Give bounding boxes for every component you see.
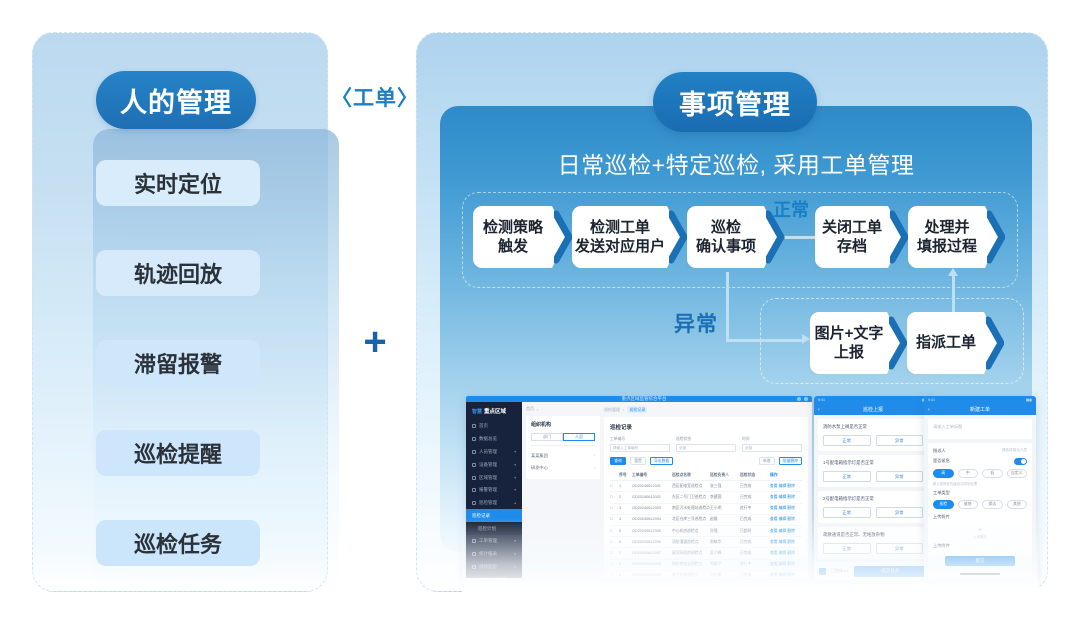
table-row[interactable]: □9GD20240612009地下车库巡检点冯志刚已完成查看 编辑 删除 [610, 571, 802, 578]
cell-code: GD20240612001 [632, 484, 672, 489]
row-checkbox[interactable]: □ [610, 551, 619, 556]
cell-no: 3 [619, 506, 632, 511]
left-item-stay-alarm[interactable]: 滞留报警 [96, 340, 260, 386]
sidebar-label: 区域管理 [479, 475, 497, 481]
report-icon [472, 552, 476, 556]
left-panel-item-list: 实时定位 轨迹回放 滞留报警 巡检提醒 巡检任务 [96, 160, 260, 566]
flow-box-line2: 上报 [834, 344, 864, 361]
checklist-question: 疏散通道是否正常、无堆放杂物 [823, 532, 923, 538]
phone-dispatch-mockup[interactable]: 9:41 ▮▮▮ ‹ 新建工单 请输入工单标题 指派人 请选择指派人员 [924, 396, 1036, 580]
sidebar-item-inspection-record[interactable]: 巡检记录 [466, 509, 522, 522]
phone-checklist-body: 消防水泵上阀是否正常正常异常1号配电箱指示灯是否正常正常异常2号配电箱指示灯是否… [814, 415, 932, 580]
cell-status: 进行中 [740, 506, 770, 511]
row-checkbox[interactable]: □ [610, 540, 619, 545]
cell-code: GD20240612004 [632, 517, 672, 522]
upload-photo-text: 上传照片 [933, 534, 1027, 539]
flow-line-to-report [726, 339, 804, 342]
flow-box-line2: 确认事项 [696, 238, 756, 255]
table-row[interactable]: □4GD20240612004北区仓库三号巡检点赵磊已完成查看 编辑 删除 [610, 515, 802, 526]
cell-point: 西区配电室巡检点 [672, 484, 710, 489]
chevron-down-icon: ▾ [514, 463, 516, 467]
sidebar-label: 设备管理 [479, 462, 497, 468]
sidebar-item-alarm[interactable]: 报警管理▾ [466, 484, 522, 497]
cell-status: 已完成 [740, 495, 770, 500]
option-normal[interactable]: 正常 [823, 435, 871, 446]
status-time: 9:41 [928, 398, 935, 402]
sidebar-item-inspection[interactable]: 巡检管理▴ [466, 497, 522, 510]
checklist-item: 消防水泵上阀是否正常正常异常 [818, 419, 928, 451]
row-checkbox[interactable]: □ [610, 495, 619, 500]
left-item-inspection-reminder[interactable]: 巡检提醒 [96, 430, 260, 476]
checklist-item: 疏散通道是否正常、无堆放杂物正常异常 [818, 527, 928, 559]
cell-actions[interactable]: 查看 编辑 删除 [770, 506, 802, 511]
tab-person[interactable]: 人员 [563, 433, 595, 441]
priority-option-custom[interactable]: 自定义 [1007, 469, 1028, 478]
cell-person: 吴少峰 [710, 551, 740, 556]
chevron-down-icon: ▾ [514, 552, 516, 556]
cell-code: GD20240612003 [632, 506, 672, 511]
flow-box-line2: 填报过程 [917, 238, 977, 255]
priority-hint: 默认按照优先级自动排序处理 [933, 481, 1027, 486]
desktop-sidebar[interactable]: 智慧 重点区域 首页 数据总览 人员管理▾ 设备管理▾ 区域管理▾ 报警管理▾ … [466, 402, 522, 578]
flow-box-line1: 关闭工单 [822, 219, 882, 236]
back-icon[interactable]: ‹ [928, 407, 930, 413]
sidebar-item-asset[interactable]: 资产档案管理▾ [466, 573, 522, 578]
cell-status: 已完成 [740, 540, 770, 545]
col-op: 操作 [770, 473, 802, 478]
flow-box-line1: 检测工单 [590, 219, 650, 236]
phone-footer: 已完成4/4 提交任务 [814, 562, 932, 580]
org-tree-title: 组织机构 [531, 421, 595, 428]
status-time: 9:41 [818, 398, 825, 402]
col-no: 序号 [619, 473, 632, 478]
filter-order-code: 工单编号 请输入工单编号 [610, 437, 670, 452]
cell-status: 进行中 [740, 562, 770, 567]
flow-box-line1: 巡检 [711, 219, 741, 236]
cell-person: 孙强 [710, 529, 740, 534]
sidebar-item-report[interactable]: 统计报表▾ [466, 548, 522, 561]
field-assignee[interactable]: 指派人 请选择指派人员 [933, 448, 1027, 454]
checklist-question: 消防水泵上阀是否正常 [823, 424, 923, 430]
option-normal[interactable]: 正常 [823, 507, 871, 518]
checklist-question: 1号配电箱指示灯是否正常 [823, 460, 923, 466]
right-panel-subtitle: 日常巡检+特定巡检, 采用工单管理 [440, 146, 1032, 180]
flow-box-process-and-report[interactable]: 处理并填报过程 [908, 206, 1000, 268]
filter-label: 工单编号 [610, 437, 670, 442]
cell-no: 7 [619, 551, 632, 556]
cell-status: 已超时 [740, 529, 770, 534]
left-item-inspection-task[interactable]: 巡检任务 [96, 520, 260, 566]
reset-button[interactable]: 重置 [630, 457, 646, 465]
logo-text: 重点区域 [484, 407, 506, 415]
sidebar-item-video[interactable]: 视频监控▾ [466, 561, 522, 574]
sidebar-item-overview[interactable]: 数据总览 [466, 433, 522, 446]
logo-brand: 智慧 [472, 408, 482, 415]
cell-point: 南区污水处理站巡检点 [672, 506, 710, 511]
checklist-options: 正常异常 [823, 471, 923, 482]
chevron-right-icon: › [594, 465, 595, 471]
cell-point: 中心机房巡检点 [672, 529, 710, 534]
table-row[interactable]: □5GD20240612005中心机房巡检点孙强已超时查看 编辑 删除 [610, 526, 802, 537]
left-panel-title: 人的管理 [96, 71, 256, 129]
avatar[interactable] [804, 397, 808, 401]
field-title[interactable]: 请输入工单标题 [928, 419, 1032, 439]
sidebar-item-home[interactable]: 首页 [466, 420, 522, 433]
flow-arrowhead-to-report [802, 334, 810, 344]
cell-status: 已完成 [740, 551, 770, 556]
cell-actions[interactable]: 查看 编辑 删除 [770, 551, 802, 556]
type-option-other[interactable]: 其他 [1007, 500, 1028, 509]
cell-actions[interactable]: 查看 编辑 删除 [770, 517, 802, 522]
cell-person: 王小明 [710, 506, 740, 511]
breadcrumb-home[interactable]: 首页 [526, 406, 534, 412]
video-icon [472, 565, 476, 569]
cell-point: 北区仓库三号巡检点 [672, 517, 710, 522]
phone-inspection-mockup[interactable]: 9:41 ▮▮▮ ‹ 巡检上报 消防水泵上阀是否正常正常异常1号配电箱指示灯是否… [814, 396, 932, 580]
checklist-options: 正常异常 [823, 507, 923, 518]
chevron-down-icon: ▾ [514, 476, 516, 480]
field-upload-photo-label: 上传照片 [933, 514, 1027, 520]
flow-box-line2: 发送对应用户 [575, 238, 665, 255]
col-person: 巡检负责人 [710, 473, 740, 478]
col-code: 工单编号 [632, 473, 672, 478]
field-type-label: 工单类型 [933, 490, 1027, 496]
action-bar: 查询 重置 导出数据 新增 批量删除 [610, 457, 802, 465]
sidebar-item-org[interactable]: 人员管理▾ [466, 446, 522, 459]
sidebar-label: 数据总览 [479, 436, 497, 442]
urgent-toggle[interactable] [1014, 458, 1027, 465]
chart-icon [472, 437, 476, 441]
priority-options[interactable]: 高 中 低 自定义 [933, 469, 1027, 478]
batch-delete-button[interactable]: 批量删除 [779, 457, 802, 465]
desktop-logo: 智慧 重点区域 [466, 402, 522, 420]
checklist-options: 正常异常 [823, 435, 923, 446]
filter-status: 巡检状态 全部 [676, 437, 736, 452]
cell-actions[interactable]: 查看 编辑 删除 [770, 529, 802, 534]
cell-no: 6 [619, 540, 632, 545]
flow-box-line1: 指派工单 [916, 333, 976, 352]
panel-title: 巡检记录 [610, 423, 802, 431]
filter-label: 巡检状态 [676, 437, 736, 442]
checklist-options: 正常异常 [823, 543, 923, 554]
flow-box-line1: 处理并 [924, 219, 969, 236]
left-item-realtime-location[interactable]: 实时定位 [96, 160, 260, 206]
cell-code: GD20240612008 [632, 562, 672, 567]
table-row[interactable]: □1GD20240612001西区配电室巡检点张三强已完成查看 编辑 删除 [610, 481, 802, 492]
footer-progress: 已完成4/4 [831, 568, 849, 574]
phone-status-bar: 9:41 ▮▮▮ [924, 396, 1036, 404]
desktop-topbar-actions[interactable] [766, 397, 812, 401]
flow-line-normal [785, 236, 817, 239]
cell-code: GD20240612002 [632, 495, 672, 500]
chevron-down-icon: ▾ [514, 488, 516, 492]
row-checkbox[interactable]: □ [610, 562, 619, 567]
org-tree-tabs[interactable]: 部门 人员 [531, 433, 595, 441]
filter-input[interactable]: 请输入工单编号 [610, 444, 670, 452]
branch-label-abnormal: 异常 [674, 308, 718, 338]
flow-box-dispatch-work-order[interactable]: 指派工单 [907, 312, 999, 374]
option-abnormal[interactable]: 异常 [876, 543, 924, 554]
checklist-item: 1号配电箱指示灯是否正常正常异常 [818, 455, 928, 487]
phone-nav-bar: ‹ 巡检上报 [814, 404, 932, 415]
row-checkbox[interactable]: □ [610, 573, 619, 578]
filter-select[interactable]: 全部 [742, 444, 802, 452]
table-row[interactable]: □6GD20240612006消防通道巡检点周敏华已完成查看 编辑 删除 [610, 537, 802, 548]
flow-box-line1: 检测策略 [483, 219, 543, 236]
cell-person: 李建国 [710, 495, 740, 500]
flow-box-send-work-order[interactable]: 检测工单发送对应用户 [572, 206, 682, 268]
cell-person: 冯志刚 [710, 573, 740, 578]
cell-point: 东区二号门卫巡检点 [672, 495, 710, 500]
table-row[interactable]: □7GD20240612007屋顶风机房巡检点吴少峰已完成查看 编辑 删除 [610, 548, 802, 559]
sidebar-label: 工单管理 [479, 538, 497, 544]
chevron-down-icon: ▾ [514, 565, 516, 569]
divider [531, 445, 595, 446]
sidebar-label: 统计报表 [479, 551, 497, 557]
breadcrumb: 首页› [526, 406, 600, 412]
tree-node-group[interactable]: 某某集团› [531, 450, 595, 462]
desktop-dashboard-mockup[interactable]: 重点区域监管综合平台 智慧 重点区域 首页 数据总览 人员管理▾ 设备管理▾ 区… [466, 396, 812, 578]
cell-point: 地下车库巡检点 [672, 573, 710, 578]
chevron-up-icon: ▴ [514, 501, 516, 505]
home-icon [472, 424, 476, 428]
cell-status: 已完成 [740, 517, 770, 522]
map-icon [472, 476, 476, 480]
option-abnormal[interactable]: 异常 [876, 507, 924, 518]
tree-node-rnd[interactable]: 研发中心› [531, 462, 595, 474]
table-header-row: 序号 工单编号 巡检点名称 巡检负责人 巡检状态 操作 [610, 470, 802, 481]
chevron-down-icon: ▾ [514, 450, 516, 454]
diagram-stage: 人的管理 实时定位 轨迹回放 滞留报警 巡检提醒 巡检任务 〈工单〉 + 事项管… [0, 0, 1080, 640]
bell-icon[interactable] [797, 397, 801, 401]
cell-status: 已完成 [740, 484, 770, 489]
table-row[interactable]: □2GD20240612002东区二号门卫巡检点李建国已完成查看 编辑 删除 [610, 492, 802, 503]
submit-task-button[interactable]: 提交任务 [854, 566, 927, 577]
flow-box-close-archive[interactable]: 关闭工单存档 [815, 206, 903, 268]
sidebar-item-inspection-plan[interactable]: 巡检计划 [466, 522, 522, 535]
filter-bar: 工单编号 请输入工单编号 巡检状态 全部 时间 全部 [610, 437, 802, 452]
flow-box-line2: 存档 [837, 238, 867, 255]
col-check [610, 473, 619, 478]
search-button[interactable]: 查询 [610, 457, 626, 465]
type-option-inspection[interactable]: 巡检 [933, 500, 954, 509]
cell-no: 8 [619, 562, 632, 567]
cell-person: 张三强 [710, 484, 740, 489]
sidebar-item-workorder[interactable]: 工单管理▾ [466, 535, 522, 548]
breadcrumb-section[interactable]: 巡检管理 [604, 407, 620, 413]
chevron-down-icon: ▾ [514, 539, 516, 543]
breadcrumb-path: 巡检管理 › 巡检记录 [604, 406, 808, 413]
option-normal[interactable]: 正常 [823, 471, 871, 482]
cell-person: 赵磊 [710, 517, 740, 522]
order-icon [472, 539, 476, 543]
upload-photo-button[interactable]: + 上传照片 [933, 524, 1027, 543]
connector-work-order-label: 〈工单〉 [330, 82, 420, 112]
option-normal[interactable]: 正常 [823, 543, 871, 554]
table-row[interactable]: □8GD20240612008锅炉房安全巡检点郑建平进行中查看 编辑 删除 [610, 560, 802, 571]
home-indicator [960, 573, 1000, 575]
desktop-main-area: 首页› 组织机构 部门 人员 某某集团› 研发中心› [522, 402, 812, 578]
table-row[interactable]: □3GD20240612003南区污水处理站巡检点王小明进行中查看 编辑 删除 [610, 504, 802, 515]
branch-label-normal: 正常 [773, 196, 809, 222]
sidebar-label: 人员管理 [479, 449, 497, 455]
users-icon [472, 450, 476, 454]
sidebar-item-device[interactable]: 设备管理▾ [466, 458, 522, 471]
sidebar-label: 巡检计划 [478, 526, 496, 532]
cell-actions[interactable]: 查看 编辑 删除 [770, 562, 802, 567]
cell-actions[interactable]: 查看 编辑 删除 [770, 484, 802, 489]
left-item-track-playback[interactable]: 轨迹回放 [96, 250, 260, 296]
cell-no: 4 [619, 517, 632, 522]
priority-option-low[interactable]: 低 [982, 469, 1003, 478]
cell-no: 2 [619, 495, 632, 500]
cell-no: 1 [619, 484, 632, 489]
priority-option-high[interactable]: 高 [933, 469, 954, 478]
filter-time: 时间 全部 [742, 437, 802, 452]
alarm-icon [472, 488, 476, 492]
checklist-icon [819, 568, 826, 575]
phone-status-bar: 9:41 ▮▮▮ [814, 396, 932, 404]
cell-no: 5 [619, 529, 632, 534]
connector-plus-icon: + [330, 322, 420, 362]
priority-option-mid[interactable]: 中 [958, 469, 979, 478]
checklist-question: 2号配电箱指示灯是否正常 [823, 496, 923, 502]
filter-label: 时间 [742, 437, 802, 442]
field-upload-file-label: 上传附件 [933, 543, 1027, 549]
cell-person: 周敏华 [710, 540, 740, 545]
row-checkbox[interactable]: □ [610, 517, 619, 522]
type-option-clean[interactable]: 保洁 [982, 500, 1003, 509]
filter-select[interactable]: 全部 [676, 444, 736, 452]
sidebar-label: 视频监控 [479, 564, 497, 570]
checklist-item: 2号配电箱指示灯是否正常正常异常 [818, 491, 928, 523]
field-urgent[interactable]: 是否紧急 [933, 458, 1027, 465]
cell-point: 屋顶风机房巡检点 [672, 551, 710, 556]
option-abnormal[interactable]: 异常 [876, 435, 924, 446]
device-icon [472, 463, 476, 467]
records-table: 序号 工单编号 巡检点名称 巡检负责人 巡检状态 操作 □1GD20240612… [610, 470, 802, 578]
flow-box-detect-strategy-trigger[interactable]: 检测策略触发 [473, 206, 567, 268]
option-abnormal[interactable]: 异常 [876, 471, 924, 482]
sidebar-label: 资产档案管理 [479, 577, 506, 578]
flow-box-photo-text-report[interactable]: 图片+文字上报 [810, 312, 902, 374]
flow-box-line1: 图片+文字 [815, 325, 884, 342]
cell-actions[interactable]: 查看 编辑 删除 [770, 573, 802, 578]
cell-actions[interactable]: 查看 编辑 删除 [770, 495, 802, 500]
add-button[interactable]: 新增 [759, 457, 775, 465]
right-panel-title: 事项管理 [653, 72, 817, 132]
flow-box-line2: 触发 [498, 238, 528, 255]
row-checkbox[interactable]: □ [610, 484, 619, 489]
type-options[interactable]: 巡检 维修 保洁 其他 [933, 500, 1027, 509]
org-tree-panel[interactable]: 组织机构 部门 人员 某某集团› 研发中心› [526, 416, 600, 479]
flow-arrowhead-to-process [948, 268, 958, 276]
row-checkbox[interactable]: □ [610, 529, 619, 534]
cell-no: 9 [619, 573, 632, 578]
sidebar-item-area[interactable]: 区域管理▾ [466, 471, 522, 484]
col-point: 巡检点名称 [672, 473, 710, 478]
sidebar-label: 报警管理 [479, 487, 497, 493]
records-panel: 巡检记录 工单编号 请输入工单编号 巡检状态 全部 [604, 417, 808, 578]
chevron-right-icon: › [594, 453, 595, 459]
cell-code: GD20240612009 [632, 573, 672, 578]
cell-person: 郑建平 [710, 562, 740, 567]
title-placeholder: 请输入工单标题 [933, 424, 1027, 430]
signal-icon: ▮▮▮ [1026, 398, 1032, 402]
breadcrumb-current: 巡检记录 [627, 406, 647, 413]
back-icon[interactable]: ‹ [818, 407, 820, 413]
phone-nav-title: 新建工单 [970, 406, 990, 413]
clipboard-icon [472, 501, 476, 505]
dispatch-submit-button[interactable]: 提交 [945, 556, 1015, 566]
tab-department[interactable]: 部门 [531, 433, 563, 441]
cell-status: 已完成 [740, 573, 770, 578]
cell-point: 消防通道巡检点 [672, 540, 710, 545]
type-option-repair[interactable]: 维修 [958, 500, 979, 509]
row-checkbox[interactable]: □ [610, 506, 619, 511]
col-status: 巡检状态 [740, 473, 770, 478]
cell-code: GD20240612006 [632, 540, 672, 545]
cell-actions[interactable]: 查看 编辑 删除 [770, 540, 802, 545]
mockup-group: 重点区域监管综合平台 智慧 重点区域 首页 数据总览 人员管理▾ 设备管理▾ 区… [462, 396, 1038, 592]
cell-point: 锅炉房安全巡检点 [672, 562, 710, 567]
cell-code: GD20240612005 [632, 529, 672, 534]
cell-code: GD20240612007 [632, 551, 672, 556]
phone-nav-bar: ‹ 新建工单 [924, 404, 1036, 415]
flow-box-inspection-confirm[interactable]: 巡检确认事项 [687, 206, 779, 268]
phone-nav-title: 巡检上报 [863, 406, 883, 413]
export-button[interactable]: 导出数据 [650, 457, 673, 465]
flow-line-inspection-down [726, 272, 729, 342]
